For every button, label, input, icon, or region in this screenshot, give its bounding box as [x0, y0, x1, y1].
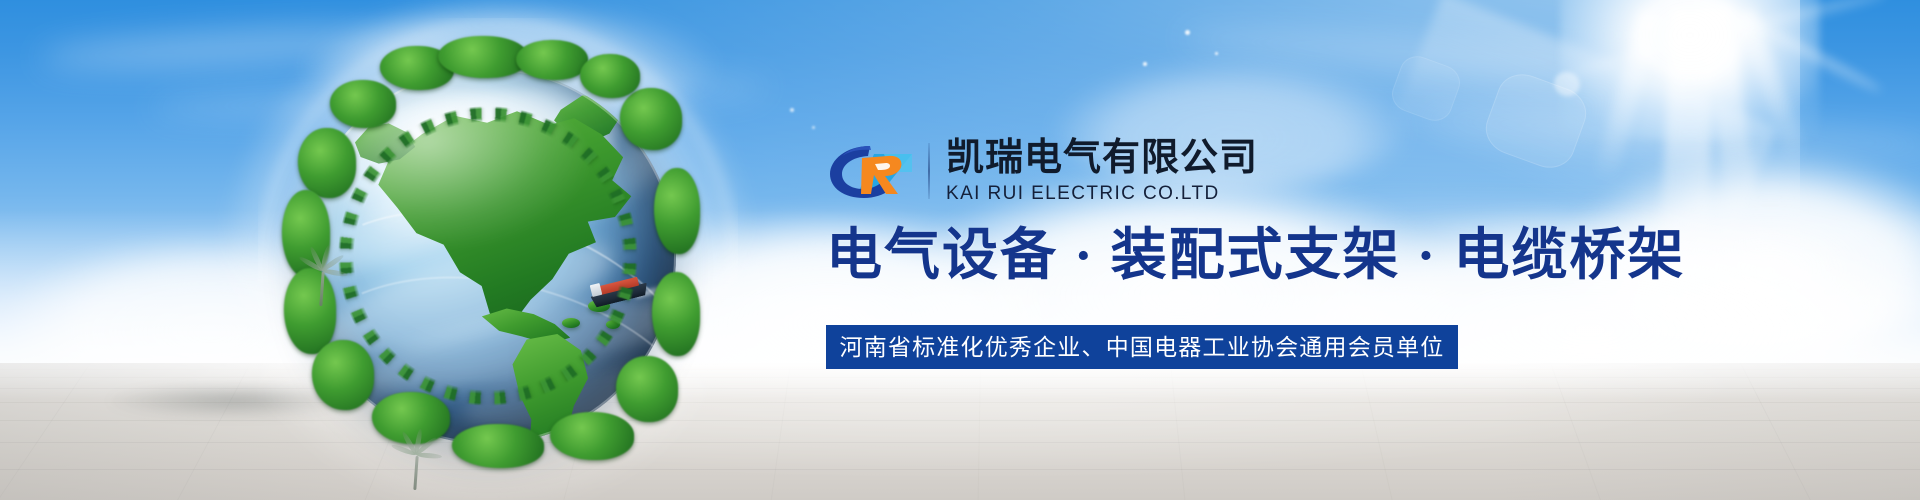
palm-tree-icon	[396, 442, 436, 500]
sparkle	[1215, 52, 1218, 55]
sparkle	[1185, 30, 1190, 35]
certification-text: 河南省标准化优秀企业、中国电器工业协会通用会员单位	[840, 336, 1445, 359]
sparkle	[812, 126, 815, 129]
sun-icon	[1560, 0, 1820, 140]
palm-tree-icon	[302, 258, 342, 318]
sparkle	[790, 108, 794, 112]
green-earth-globe-icon	[268, 40, 708, 470]
product-tagline: 电气设备 · 装配式支架 · 电缆桥架	[826, 228, 1685, 284]
kairui-cr-monogram-icon	[828, 142, 916, 200]
logo-divider	[928, 143, 930, 199]
company-name-en: KAI RUI ELECTRIC CO.LTD	[946, 184, 1258, 203]
sparkle	[1143, 62, 1147, 66]
company-hero-banner: 凯瑞电气有限公司 KAI RUI ELECTRIC CO.LTD 电气设备 · …	[0, 0, 1920, 500]
brand-lockup: 凯瑞电气有限公司 KAI RUI ELECTRIC CO.LTD	[828, 133, 1258, 209]
company-name-cn: 凯瑞电气有限公司	[946, 139, 1258, 178]
certification-banner: 河南省标准化优秀企业、中国电器工业协会通用会员单位	[826, 325, 1458, 369]
